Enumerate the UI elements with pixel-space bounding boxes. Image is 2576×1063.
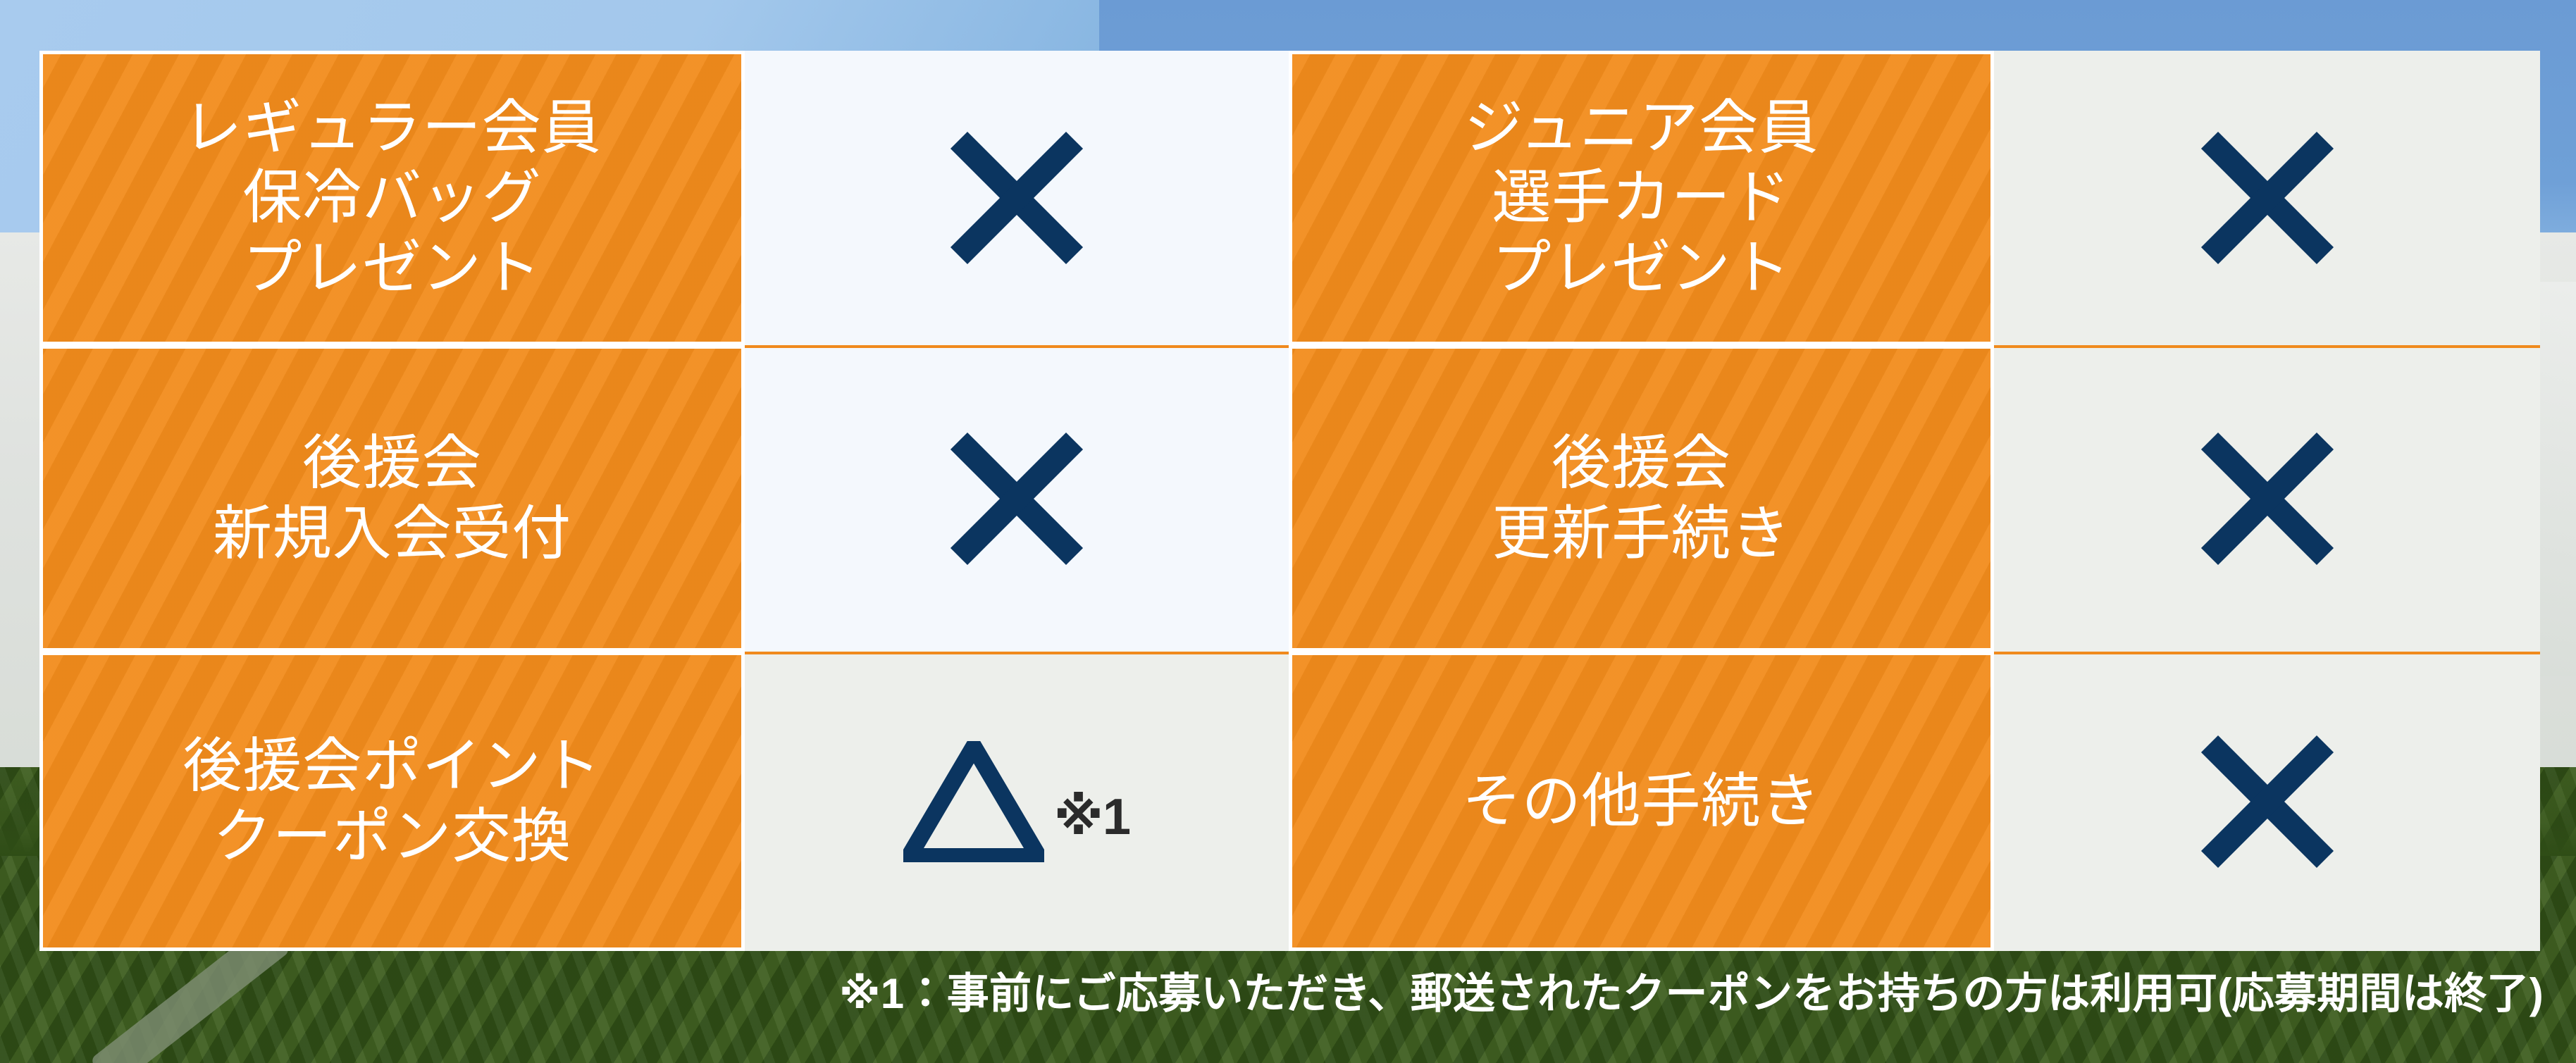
status-cell [1994,345,2540,652]
status-cell [1994,51,2540,345]
cross-icon [956,137,1077,259]
status-mark [956,137,1077,259]
status-mark [956,438,1077,559]
table-row: 後援会ポイント クーポン交換 [39,652,745,951]
status-cell [1994,652,2540,951]
cross-icon [956,438,1077,559]
triangle-icon [903,741,1044,862]
comparison-table: レギュラー会員 保冷バッグ プレゼント ジュニア会員 選手カード プレゼント 後… [39,51,2540,951]
status-mark: ※1 [903,741,1131,862]
status-cell [745,51,1289,345]
benefit-label-regular: レギュラー会員 保冷バッグ プレゼント [183,93,602,302]
table-row: ジュニア会員 選手カード プレゼント [1289,51,1994,345]
benefit-label-junior: ジュニア会員 選手カード プレゼント [1464,93,1819,302]
status-cell [745,345,1289,652]
benefit-label-new-membership: 後援会 新規入会受付 [213,428,571,568]
status-mark [2207,741,2328,862]
table-row: その他手続き [1289,652,1994,951]
table-row: 後援会 更新手続き [1289,345,1994,652]
cross-icon [2207,741,2328,862]
table-row: レギュラー会員 保冷バッグ プレゼント [39,51,745,345]
cross-icon [2207,438,2328,559]
promo-comparison-graphic: レギュラー会員 保冷バッグ プレゼント ジュニア会員 選手カード プレゼント 後… [0,0,2576,1063]
table-row: 後援会 新規入会受付 [39,345,745,652]
status-mark [2207,438,2328,559]
cross-icon [2207,137,2328,259]
benefit-label-point-coupon: 後援会ポイント クーポン交換 [183,731,602,871]
footnote-text: ※1：事前にご応募いただき、郵送されたクーポンをお持ちの方は利用可(応募期間は終… [0,971,2544,1017]
footnote-reference: ※1 [1054,792,1131,843]
status-cell: ※1 [745,652,1289,951]
benefit-label-renewal: 後援会 更新手続き [1492,428,1790,568]
benefit-label-other-procedures: その他手続き [1462,766,1821,836]
status-mark [2207,137,2328,259]
